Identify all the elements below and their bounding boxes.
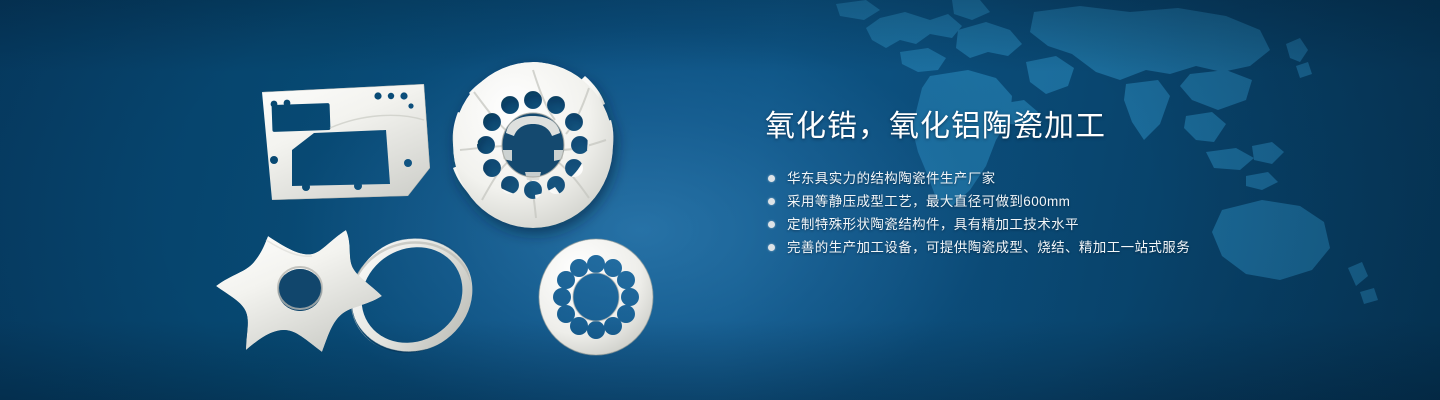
ceramic-mounting-plate — [250, 70, 450, 215]
banner-copy: 氧化锆，氧化铝陶瓷加工 华东具实力的结构陶瓷件生产厂家 采用等静压成型工艺，最大… — [765, 106, 1385, 259]
bullet-dot-icon — [768, 221, 775, 228]
feature-text: 完善的生产加工设备，可提供陶瓷成型、烧结、精加工一站式服务 — [787, 236, 1190, 259]
feature-text: 定制特殊形状陶瓷结构件，具有精加工技术水平 — [787, 213, 1079, 236]
feature-text: 华东具实力的结构陶瓷件生产厂家 — [787, 167, 996, 190]
ceramic-impeller-wheel — [453, 62, 614, 228]
product-image-collage — [0, 0, 720, 400]
bullet-dot-icon — [768, 175, 775, 182]
bullet-dot-icon — [768, 198, 775, 205]
ceramic-cross-rotor — [216, 230, 382, 352]
list-item: 采用等静压成型工艺，最大直径可做到600mm — [765, 190, 1385, 213]
list-item: 定制特殊形状陶瓷结构件，具有精加工技术水平 — [765, 213, 1385, 236]
ceramic-perforated-disc — [539, 239, 653, 355]
feature-list: 华东具实力的结构陶瓷件生产厂家 采用等静压成型工艺，最大直径可做到600mm 定… — [765, 167, 1385, 259]
list-item: 华东具实力的结构陶瓷件生产厂家 — [765, 167, 1385, 190]
feature-text: 采用等静压成型工艺，最大直径可做到600mm — [787, 190, 1070, 213]
list-item: 完善的生产加工设备，可提供陶瓷成型、烧结、精加工一站式服务 — [765, 236, 1385, 259]
banner-headline: 氧化锆，氧化铝陶瓷加工 — [765, 106, 1385, 148]
promo-banner: 氧化锆，氧化铝陶瓷加工 华东具实力的结构陶瓷件生产厂家 采用等静压成型工艺，最大… — [0, 0, 1440, 400]
bullet-dot-icon — [768, 244, 775, 251]
